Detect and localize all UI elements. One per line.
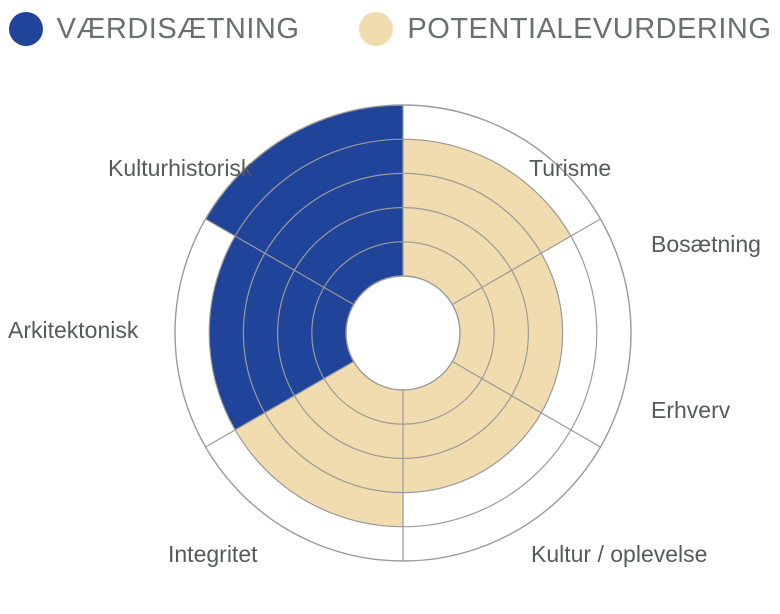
axis-label-turisme: Turisme: [529, 155, 611, 181]
axis-label-kulturhistorisk: Kulturhistorisk: [108, 155, 253, 181]
chart-legend: VÆRDISÆTNING POTENTIALEVURDERING: [0, 0, 780, 58]
circle-swatch-icon: [359, 12, 393, 46]
legend-item-potentialevurdering[interactable]: POTENTIALEVURDERING: [359, 12, 771, 46]
polar-chart-container: Kulturhistorisk Turisme Bosætning Erhver…: [0, 58, 780, 614]
polar-chart-svg: Kulturhistorisk Turisme Bosætning Erhver…: [0, 58, 780, 614]
legend-label-potentialevurdering: POTENTIALEVURDERING: [407, 13, 771, 46]
axis-label-integritet: Integritet: [168, 541, 258, 567]
axis-label-erhverv: Erhverv: [651, 397, 731, 423]
circle-swatch-icon: [9, 12, 43, 46]
chart-page: VÆRDISÆTNING POTENTIALEVURDERING Kulturh…: [0, 0, 780, 614]
legend-label-vaerdisaetning: VÆRDISÆTNING: [57, 13, 300, 46]
chart-center-hole: [346, 276, 460, 390]
axis-label-arkitektonisk: Arkitektonisk: [8, 317, 139, 343]
legend-item-vaerdisaetning[interactable]: VÆRDISÆTNING: [9, 12, 300, 46]
axis-label-kultur-oplevelse: Kultur / oplevelse: [531, 541, 707, 567]
axis-label-bosaetning: Bosætning: [651, 231, 761, 257]
